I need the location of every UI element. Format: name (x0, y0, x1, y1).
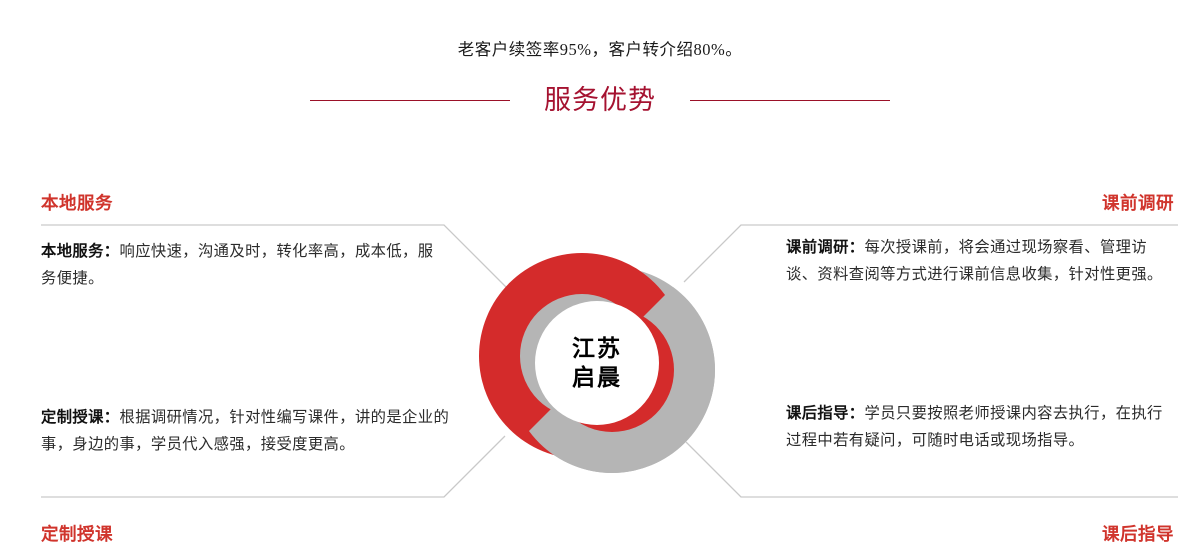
company-logo-rings (452, 218, 742, 508)
description-lead-bottom-right: 课后指导： (786, 405, 865, 422)
description-top-right: 课前调研：每次授课前，将会通过现场察看、管理访谈、资料查阅等方式进行课前信息收集… (786, 234, 1178, 288)
ring-graphic (452, 218, 742, 508)
page-title: 服务优势 (544, 87, 656, 114)
section-title-row: 服务优势 (0, 80, 1200, 120)
description-lead-top-right: 课前调研： (786, 239, 865, 256)
description-bottom-right: 课后指导：学员只要按照老师授课内容去执行，在执行过程中若有疑问，可随时电话或现场… (786, 400, 1178, 454)
tagline-text: 老客户续签率95%，客户转介绍80%。 (0, 36, 1200, 60)
corner-label-top-right: 课前调研 (1102, 190, 1174, 215)
title-rule-right (690, 100, 890, 101)
description-bottom-left: 定制授课：根据调研情况，针对性编写课件，讲的是企业的事，身边的事，学员代入感强，… (41, 404, 451, 458)
description-lead-bottom-left: 定制授课： (41, 409, 120, 426)
description-top-left: 本地服务：响应快速，沟通及时，转化率高，成本低，服务便捷。 (41, 238, 441, 292)
corner-label-bottom-right: 课后指导 (1102, 521, 1174, 546)
corner-label-bottom-left: 定制授课 (41, 521, 113, 546)
corner-label-top-left: 本地服务 (41, 190, 113, 215)
ring-inner-disc (535, 301, 659, 425)
description-lead-top-left: 本地服务： (41, 243, 120, 260)
title-rule-left (310, 100, 510, 101)
slide-canvas: 老客户续签率95%，客户转介绍80%。 服务优势 本地服务 课前调研 定制授课 … (0, 0, 1200, 555)
